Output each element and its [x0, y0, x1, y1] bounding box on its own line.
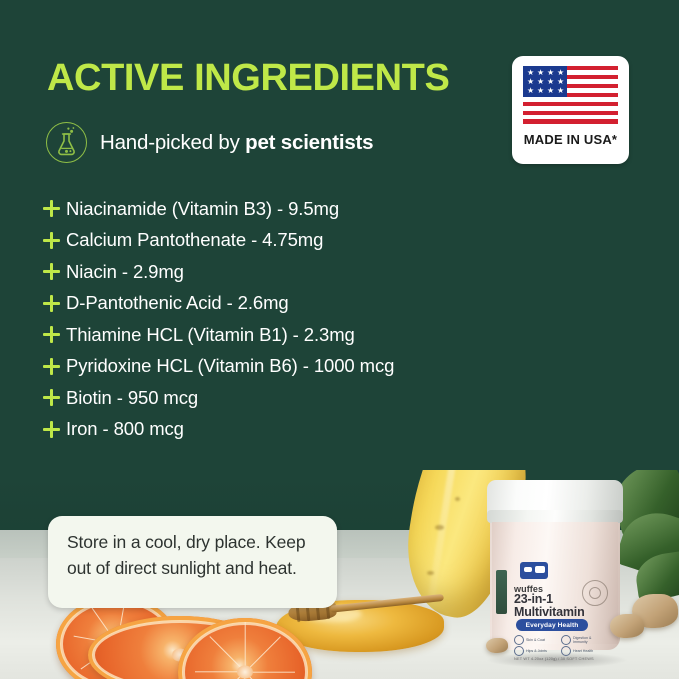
digestion-immunity-icon [561, 635, 571, 645]
page-title: ACTIVE INGREDIENTS [47, 56, 449, 100]
everyday-health-label: Everyday Health [516, 622, 588, 629]
ingredient-label: D-Pantothenic Acid - 2.6mg [66, 292, 289, 314]
plus-icon [40, 293, 66, 313]
ingredient-row: Pyridoxine HCL (Vitamin B6) - 1000 mcg [40, 351, 510, 383]
ingredient-row: Calcium Pantothenate - 4.75mg [40, 225, 510, 257]
flask-icon [46, 122, 87, 163]
us-flag-icon: ★ ★ ★ ★ ★ ★ ★ ★ ★ ★ ★ ★ [523, 66, 618, 124]
subtitle-regular-part: Hand-picked by [100, 131, 245, 154]
ingredient-label: Iron - 800 mcg [66, 418, 184, 440]
ingredient-label: Thiamine HCL (Vitamin B1) - 2.3mg [66, 324, 355, 346]
plus-icon [40, 325, 66, 345]
jar-benefit-item: Digestion & Immunity [561, 635, 604, 645]
made-in-usa-badge: ★ ★ ★ ★ ★ ★ ★ ★ ★ ★ ★ ★ MADE IN USA* [512, 56, 629, 164]
ingredient-list: Niacinamide (Vitamin B3) - 9.5mg Calcium… [40, 193, 510, 445]
ingredient-row: Thiamine HCL (Vitamin B1) - 2.3mg [40, 319, 510, 351]
jar-benefit-item: Hips & Joints [514, 646, 557, 656]
ingredient-row: Biotin - 950 mcg [40, 382, 510, 414]
jar-benefit-item: Skin & Coat [514, 635, 557, 645]
dog-size-badge [520, 562, 548, 579]
plus-icon [40, 388, 66, 408]
label-side-strip [496, 570, 507, 614]
ingredient-label: Niacin - 2.9mg [66, 261, 184, 283]
ingredient-label: Niacinamide (Vitamin B3) - 9.5mg [66, 198, 339, 220]
infographic-canvas: wuffes 23-in-1 Multivitamin Everyday Hea… [0, 0, 679, 679]
ingredient-row: Niacinamide (Vitamin B3) - 9.5mg [40, 193, 510, 225]
everyday-health-pill: Everyday Health [516, 619, 588, 631]
subtitle-row: Hand-picked by pet scientists [46, 122, 373, 163]
ingredient-row: Niacin - 2.9mg [40, 256, 510, 288]
ingredient-label: Pyridoxine HCL (Vitamin B6) - 1000 mcg [66, 355, 394, 377]
product-jar: wuffes 23-in-1 Multivitamin Everyday Hea… [490, 480, 620, 660]
plus-icon [40, 199, 66, 219]
plus-icon [40, 262, 66, 282]
jar-product-name-line2: Multivitamin [514, 606, 585, 619]
jar-benefit-list: Skin & Coat Digestion & Immunity Hips & … [514, 635, 606, 656]
plus-icon [40, 356, 66, 376]
heart-health-icon [561, 646, 571, 656]
ingredient-label: Calcium Pantothenate - 4.75mg [66, 229, 323, 251]
ginger-root [610, 614, 644, 638]
paw-seal-icon [582, 580, 608, 606]
storage-note-box: Store in a cool, dry place. Keep out of … [48, 516, 337, 608]
plus-icon [40, 230, 66, 250]
plus-icon [40, 419, 66, 439]
skin-coat-icon [514, 635, 524, 645]
made-in-usa-label: MADE IN USA* [512, 132, 629, 147]
jar-label: wuffes 23-in-1 Multivitamin Everyday Hea… [492, 522, 618, 644]
hips-joints-icon [514, 646, 524, 656]
jar-product-name-line1: 23-in-1 [514, 593, 585, 606]
ingredient-label: Biotin - 950 mcg [66, 387, 198, 409]
ingredient-row: D-Pantothenic Acid - 2.6mg [40, 288, 510, 320]
storage-note-text: Store in a cool, dry place. Keep out of … [67, 530, 323, 581]
subtitle: Hand-picked by pet scientists [100, 131, 373, 155]
subtitle-bold-part: pet scientists [245, 131, 373, 154]
ingredient-row: Iron - 800 mcg [40, 414, 510, 446]
jar-net-weight: NET WT 4.20oz (120g) / 30 SOFT CHEWS [514, 656, 594, 661]
jar-product-name: 23-in-1 Multivitamin [514, 593, 585, 618]
jar-benefit-item: Heart Health [561, 646, 604, 656]
ginger-root [486, 638, 508, 653]
